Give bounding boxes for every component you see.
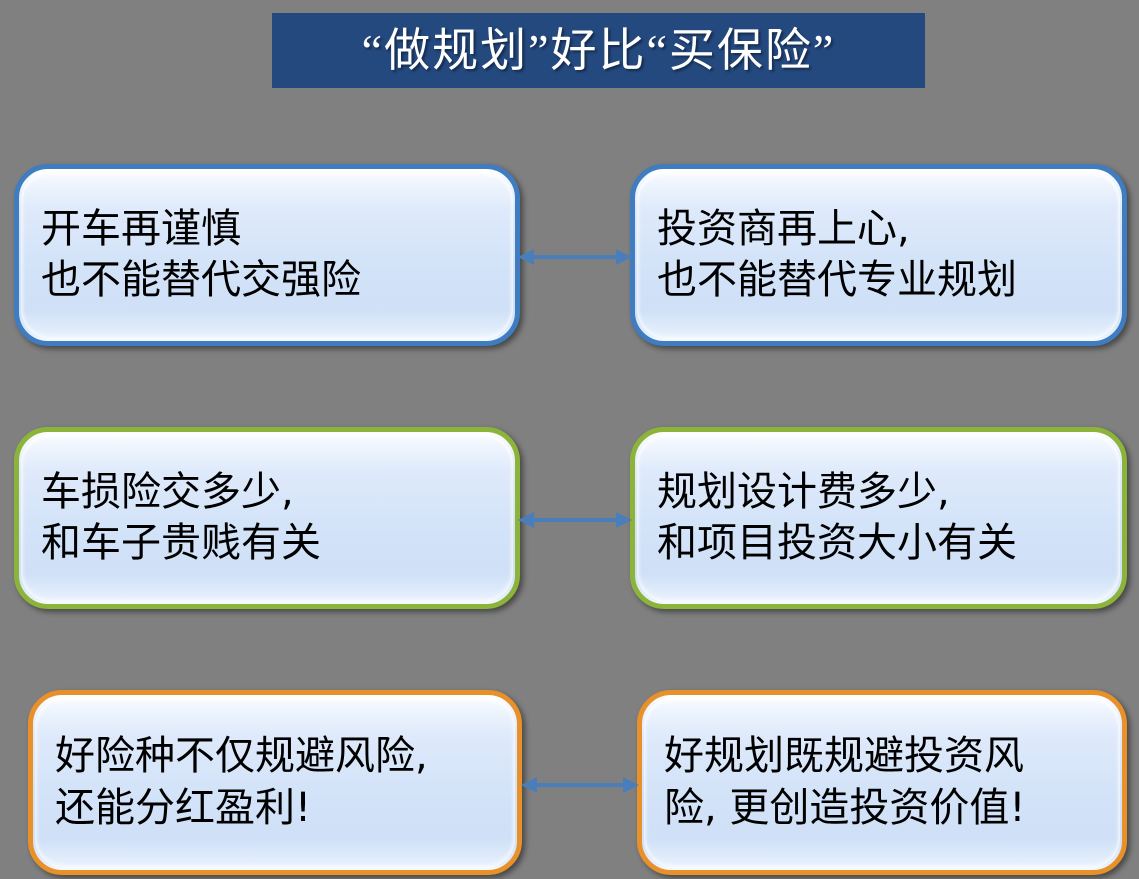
callout-box-row1-left: 开车再谨慎 也不能替代交强险: [14, 164, 520, 346]
callout-box-row3-right: 好规划既规避投资风 险, 更创造投资价值!: [637, 690, 1127, 875]
double-arrow-row2: [518, 503, 632, 537]
page-title: “做规划”好比“买保险”: [362, 28, 836, 74]
double-arrow-row3: [521, 768, 639, 802]
callout-box-row2-left: 车损险交多少, 和车子贵贱有关: [14, 427, 520, 609]
slide-title-banner: “做规划”好比“买保险”: [272, 13, 925, 88]
callout-text-row1-left: 开车再谨慎 也不能替代交强险: [19, 204, 371, 306]
callout-box-row2-right: 规划设计费多少, 和项目投资大小有关: [630, 427, 1127, 609]
callout-box-row1-right: 投资商再上心, 也不能替代专业规划: [630, 164, 1127, 346]
double-arrow-row1: [518, 240, 632, 274]
callout-text-row3-left: 好险种不仅规避风险, 还能分红盈利!: [33, 731, 438, 833]
callout-text-row2-left: 车损险交多少, 和车子贵贱有关: [19, 467, 331, 569]
callout-text-row2-right: 规划设计费多少, 和项目投资大小有关: [635, 467, 1027, 569]
callout-text-row1-right: 投资商再上心, 也不能替代专业规划: [635, 204, 1027, 306]
callout-text-row3-right: 好规划既规避投资风 险, 更创造投资价值!: [642, 731, 1035, 833]
callout-box-row3-left: 好险种不仅规避风险, 还能分红盈利!: [28, 690, 522, 875]
